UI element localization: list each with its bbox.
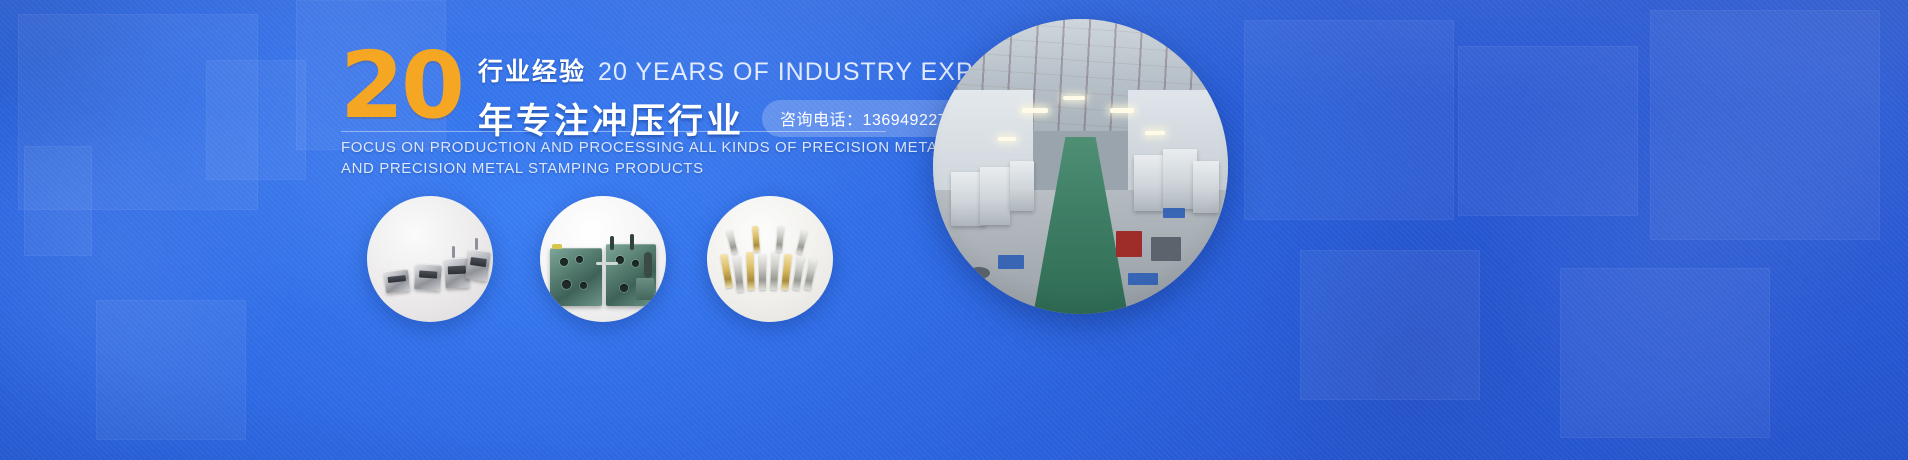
product-circle-usb-connector-shells: [367, 196, 493, 322]
cn-headline: 年专注冲压行业: [478, 93, 744, 144]
factory-workshop-photo: [933, 19, 1228, 314]
years-number: 20: [340, 46, 462, 127]
product-circle-stamping-mold-halves: [540, 196, 666, 322]
banner-content: 20 行业经验 20 YEARS OF INDUSTRY EXPERIENCE …: [0, 0, 1908, 460]
headline-divider: [341, 131, 886, 132]
cn-tagline: 行业经验: [478, 52, 586, 88]
promo-banner: 20 行业经验 20 YEARS OF INDUSTRY EXPERIENCE …: [0, 0, 1908, 460]
product-circle-metal-terminal-pins: [707, 196, 833, 322]
